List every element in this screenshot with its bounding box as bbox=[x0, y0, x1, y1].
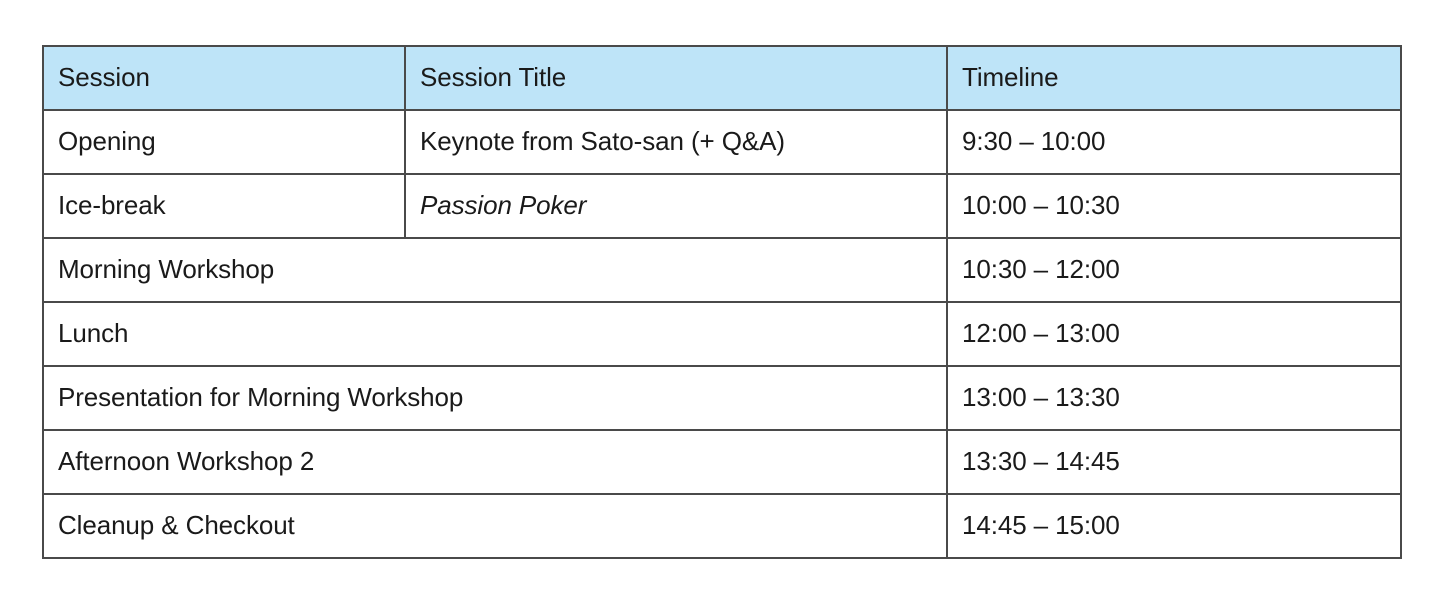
table-row: Lunch12:00 – 13:00 bbox=[43, 302, 1401, 366]
cell-session: Afternoon Workshop 2 bbox=[43, 430, 947, 494]
cell-session: Morning Workshop bbox=[43, 238, 947, 302]
column-header-title: Session Title bbox=[405, 46, 947, 110]
cell-timeline: 9:30 – 10:00 bbox=[947, 110, 1401, 174]
column-header-session: Session bbox=[43, 46, 405, 110]
header-row: Session Session Title Timeline bbox=[43, 46, 1401, 110]
table-row: Ice-breakPassion Poker10:00 – 10:30 bbox=[43, 174, 1401, 238]
table-row: OpeningKeynote from Sato-san (+ Q&A)9:30… bbox=[43, 110, 1401, 174]
table-row: Presentation for Morning Workshop13:00 –… bbox=[43, 366, 1401, 430]
cell-timeline: 13:30 – 14:45 bbox=[947, 430, 1401, 494]
cell-session: Presentation for Morning Workshop bbox=[43, 366, 947, 430]
cell-session-title: Keynote from Sato-san (+ Q&A) bbox=[405, 110, 947, 174]
cell-timeline: 10:30 – 12:00 bbox=[947, 238, 1401, 302]
column-header-timeline: Timeline bbox=[947, 46, 1401, 110]
table-row: Morning Workshop10:30 – 12:00 bbox=[43, 238, 1401, 302]
cell-session: Opening bbox=[43, 110, 405, 174]
cell-timeline: 14:45 – 15:00 bbox=[947, 494, 1401, 558]
table-body: OpeningKeynote from Sato-san (+ Q&A)9:30… bbox=[43, 110, 1401, 558]
cell-session: Ice-break bbox=[43, 174, 405, 238]
cell-session-title: Passion Poker bbox=[405, 174, 947, 238]
table-row: Cleanup & Checkout14:45 – 15:00 bbox=[43, 494, 1401, 558]
cell-timeline: 12:00 – 13:00 bbox=[947, 302, 1401, 366]
cell-timeline: 10:00 – 10:30 bbox=[947, 174, 1401, 238]
event-schedule-table: Session Session Title Timeline OpeningKe… bbox=[42, 45, 1402, 559]
cell-session: Cleanup & Checkout bbox=[43, 494, 947, 558]
table-row: Afternoon Workshop 213:30 – 14:45 bbox=[43, 430, 1401, 494]
table-header: Session Session Title Timeline bbox=[43, 46, 1401, 110]
cell-session: Lunch bbox=[43, 302, 947, 366]
page-root: Session Session Title Timeline OpeningKe… bbox=[0, 0, 1440, 599]
cell-timeline: 13:00 – 13:30 bbox=[947, 366, 1401, 430]
